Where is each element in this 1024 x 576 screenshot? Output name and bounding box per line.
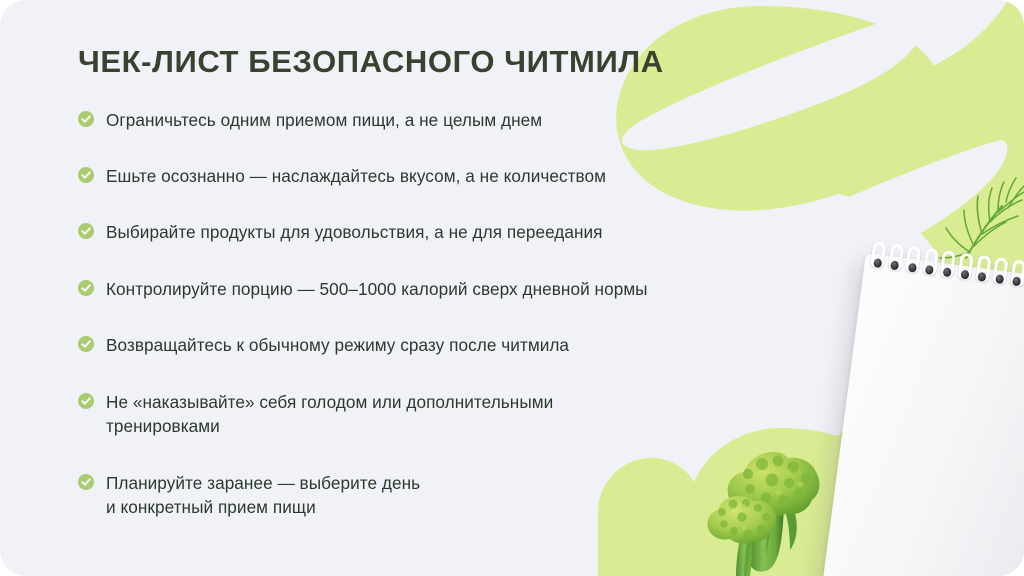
checklist-item-label: Ешьте осознанно — наслаждайтесь вкусом, … <box>106 164 606 188</box>
checklist-item: Контролируйте порцию — 500–1000 калорий … <box>78 277 1024 301</box>
checklist-item: Планируйте заранее — выберите день и кон… <box>78 471 1024 520</box>
checklist-item-label: Контролируйте порцию — 500–1000 калорий … <box>106 277 648 301</box>
checklist-item: Возвращайтесь к обычному режиму сразу по… <box>78 333 1024 357</box>
checklist-item-label: Планируйте заранее — выберите день и кон… <box>106 471 420 520</box>
checklist-item-label: Не «наказывайте» себя голодом или дополн… <box>106 390 553 439</box>
page-title: ЧЕК-ЛИСТ БЕЗОПАСНОГО ЧИТМИЛА <box>78 44 1024 81</box>
card-content: ЧЕК-ЛИСТ БЕЗОПАСНОГО ЧИТМИЛА Ограничьтес… <box>0 0 1024 576</box>
check-circle-icon <box>78 393 94 409</box>
check-circle-icon <box>78 223 94 239</box>
checklist-item-label: Ограничьтесь одним приемом пищи, а не це… <box>106 108 542 132</box>
checklist-item: Выбирайте продукты для удовольствия, а н… <box>78 220 1024 244</box>
checklist-item: Не «наказывайте» себя голодом или дополн… <box>78 390 1024 439</box>
checklist-item: Ешьте осознанно — наслаждайтесь вкусом, … <box>78 164 1024 188</box>
check-circle-icon <box>78 280 94 296</box>
checklist-item-label: Возвращайтесь к обычному режиму сразу по… <box>106 333 569 357</box>
check-circle-icon <box>78 474 94 490</box>
checklist-item: Ограничьтесь одним приемом пищи, а не це… <box>78 108 1024 132</box>
checklist: Ограничьтесь одним приемом пищи, а не це… <box>78 108 1024 520</box>
check-circle-icon <box>78 167 94 183</box>
checklist-card: ЧЕК-ЛИСТ БЕЗОПАСНОГО ЧИТМИЛА Ограничьтес… <box>0 0 1024 576</box>
checklist-item-label: Выбирайте продукты для удовольствия, а н… <box>106 220 603 244</box>
check-circle-icon <box>78 111 94 127</box>
check-circle-icon <box>78 336 94 352</box>
